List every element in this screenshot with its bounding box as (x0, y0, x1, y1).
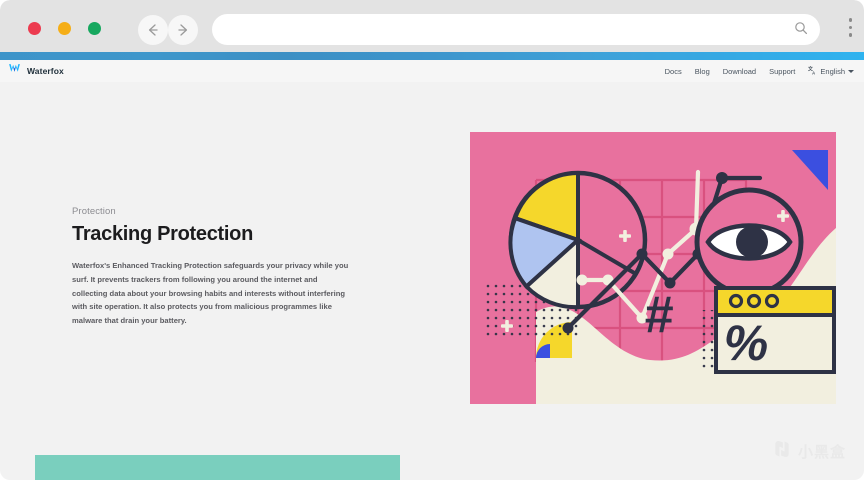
brand[interactable]: Waterfox (8, 62, 64, 80)
language-selector[interactable]: 文 A English (808, 66, 854, 77)
close-button[interactable] (28, 22, 41, 35)
waterfox-logo-icon (8, 62, 21, 80)
translate-icon: 文 A (808, 66, 817, 77)
chevron-down-icon (848, 70, 854, 73)
xiaoheihe-logo-icon (772, 439, 792, 464)
page-title: Tracking Protection (72, 223, 357, 246)
tracking-protection-illustration: # % (470, 132, 836, 404)
maximize-button[interactable] (88, 22, 101, 35)
nav-item-blog[interactable]: Blog (695, 67, 710, 76)
svg-text:A: A (813, 70, 816, 75)
back-button[interactable] (138, 15, 168, 45)
arrow-left-icon (145, 22, 161, 38)
footer-accent-bar (35, 455, 400, 480)
language-label: English (820, 67, 845, 76)
accent-strip (0, 52, 864, 60)
browser-window: Waterfox Docs Blog Download Support 文 A … (0, 0, 864, 480)
eyebrow-label: Protection (72, 206, 357, 217)
watermark-text: 小黑盒 (798, 441, 846, 462)
nav-item-support[interactable]: Support (769, 67, 795, 76)
hash-glyph: # (644, 286, 673, 344)
eye-icon (697, 190, 801, 294)
site-nav: Docs Blog Download Support 文 A English (665, 66, 854, 77)
brand-name: Waterfox (27, 66, 64, 76)
search-icon[interactable] (794, 21, 808, 40)
nav-item-download[interactable]: Download (723, 67, 756, 76)
address-bar[interactable] (212, 14, 820, 45)
page-content: Protection Tracking Protection Waterfox'… (0, 82, 864, 480)
percent-glyph: % (724, 315, 768, 371)
site-header: Waterfox Docs Blog Download Support 文 A … (0, 60, 864, 82)
minimize-button[interactable] (58, 22, 71, 35)
window-controls (28, 22, 101, 35)
watermark: 小黑盒 (772, 439, 846, 464)
nav-item-docs[interactable]: Docs (665, 67, 682, 76)
arrow-right-icon (175, 22, 191, 38)
forward-button[interactable] (168, 15, 198, 45)
body-paragraph: Waterfox's Enhanced Tracking Protection … (72, 259, 350, 328)
browser-chrome (0, 0, 864, 52)
text-column: Protection Tracking Protection Waterfox'… (72, 206, 357, 328)
browser-window-percent: % (716, 288, 834, 372)
kebab-menu-icon[interactable] (849, 18, 853, 37)
